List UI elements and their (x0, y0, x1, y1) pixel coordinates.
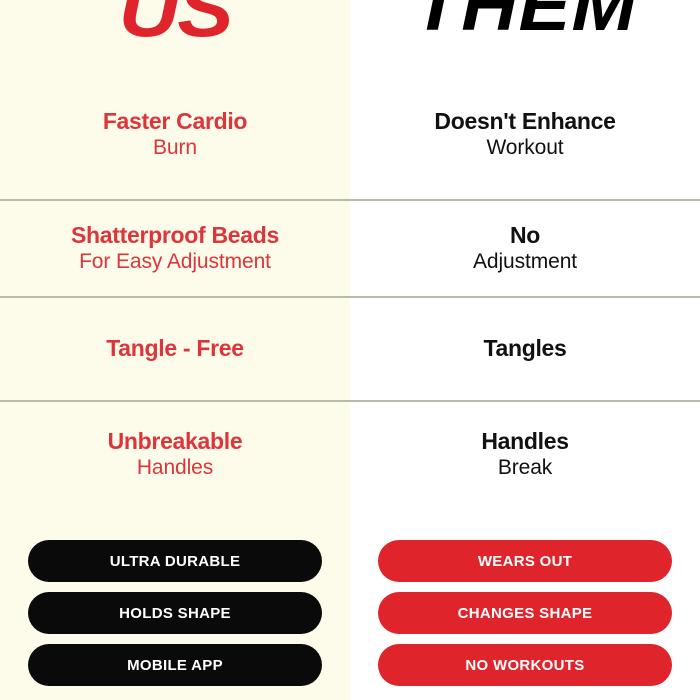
us-cell-4-secondary: Handles (137, 455, 213, 480)
us-badge-1[interactable]: ULTRA DURABLE (28, 540, 322, 582)
us-cell-2-primary: Shatterproof Beads (71, 222, 279, 249)
them-cell-1-secondary: Workout (486, 135, 563, 160)
us-cell-2: Shatterproof Beads For Easy Adjustment (0, 201, 350, 296)
us-brand-title: US (0, 0, 350, 48)
them-cell-3-primary: Tangles (483, 335, 566, 362)
them-badge-3[interactable]: NO WORKOUTS (378, 644, 672, 686)
them-cell-4-secondary: Break (498, 455, 552, 480)
them-badge-list: WEARS OUT CHANGES SHAPE NO WORKOUTS (350, 530, 700, 700)
them-cell-2-secondary: Adjustment (473, 249, 577, 274)
them-cell-4-primary: Handles (481, 428, 568, 455)
us-badge-2[interactable]: HOLDS SHAPE (28, 592, 322, 634)
comparison-table: US THEM Faster Cardio Burn Doesn't Enhan… (0, 0, 700, 700)
us-header-cell: US (0, 0, 350, 70)
us-cell-4-primary: Unbreakable (108, 428, 243, 455)
us-cell-4: Unbreakable Handles (0, 402, 350, 506)
them-header-cell: THEM (350, 0, 700, 70)
us-cell-1-secondary: Burn (153, 135, 197, 160)
us-cell-1-primary: Faster Cardio (103, 108, 247, 135)
table-row: Faster Cardio Burn Doesn't Enhance Worko… (0, 70, 700, 201)
us-cell-3-primary: Tangle - Free (106, 335, 244, 362)
them-cell-1: Doesn't Enhance Workout (350, 70, 700, 199)
them-cell-4: Handles Break (350, 402, 700, 506)
table-row: Shatterproof Beads For Easy Adjustment N… (0, 201, 700, 298)
them-badge-1[interactable]: WEARS OUT (378, 540, 672, 582)
us-cell-1: Faster Cardio Burn (0, 70, 350, 199)
feature-rows: Faster Cardio Burn Doesn't Enhance Worko… (0, 70, 700, 506)
us-cell-2-secondary: For Easy Adjustment (79, 249, 271, 274)
them-badge-2[interactable]: CHANGES SHAPE (378, 592, 672, 634)
them-cell-2-primary: No (510, 222, 540, 249)
us-badge-list: ULTRA DURABLE HOLDS SHAPE MOBILE APP (0, 530, 350, 700)
us-badge-3[interactable]: MOBILE APP (28, 644, 322, 686)
them-brand-title: THEM (350, 0, 700, 42)
them-cell-1-primary: Doesn't Enhance (434, 108, 615, 135)
table-header: US THEM (0, 0, 700, 70)
badge-section: ULTRA DURABLE HOLDS SHAPE MOBILE APP WEA… (0, 530, 700, 700)
table-row: Tangle - Free Tangles (0, 298, 700, 402)
table-row: Unbreakable Handles Handles Break (0, 402, 700, 506)
them-cell-2: No Adjustment (350, 201, 700, 296)
them-cell-3: Tangles (350, 298, 700, 400)
us-cell-3: Tangle - Free (0, 298, 350, 400)
